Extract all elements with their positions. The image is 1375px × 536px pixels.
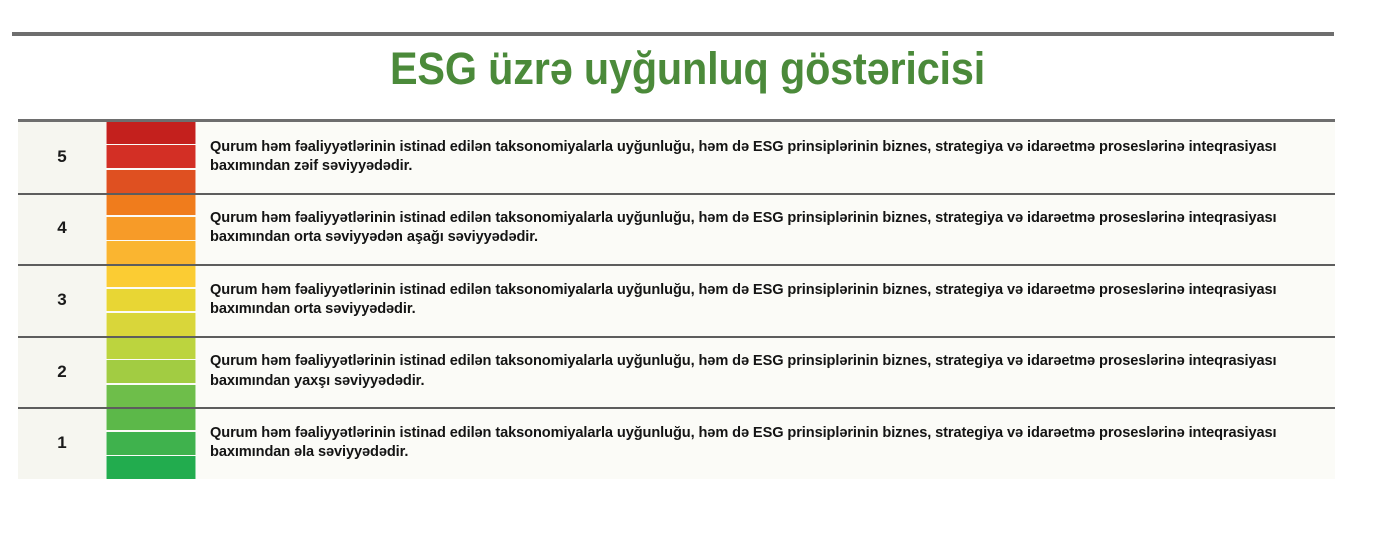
- table-row: 5Qurum həm fəaliyyətlərinin istinad edil…: [18, 121, 1335, 193]
- color-swatch: [106, 385, 196, 408]
- color-swatch: [106, 336, 196, 359]
- description-text: Qurum həm fəaliyyətlərinin istinad edilə…: [210, 209, 1309, 248]
- description-cell: Qurum həm fəaliyyətlərinin istinad edilə…: [196, 336, 1335, 408]
- color-swatch: [106, 145, 196, 168]
- color-swatch: [106, 360, 196, 383]
- table-row: 3Qurum həm fəaliyyətlərinin istinad edil…: [18, 264, 1335, 336]
- score-cell: 4: [18, 193, 106, 265]
- page-title: ESG üzrə uyğunluq göstəricisi: [55, 44, 1320, 94]
- table-top-border: [18, 119, 1335, 122]
- description-text: Qurum həm fəaliyyətlərinin istinad edilə…: [210, 138, 1309, 177]
- score-cell: 3: [18, 264, 106, 336]
- description-text: Qurum həm fəaliyyətlərinin istinad edilə…: [210, 424, 1309, 463]
- color-swatch: [106, 407, 196, 430]
- description-cell: Qurum həm fəaliyyətlərinin istinad edilə…: [196, 264, 1335, 336]
- description-text: Qurum həm fəaliyyətlərinin istinad edilə…: [210, 352, 1309, 391]
- top-divider-rule: [12, 32, 1334, 36]
- score-cell: 2: [18, 336, 106, 408]
- table-row: 2Qurum həm fəaliyyətlərinin istinad edil…: [18, 336, 1335, 408]
- score-cell: 5: [18, 121, 106, 193]
- color-swatch: [106, 241, 196, 264]
- color-scale-cell: [106, 264, 196, 336]
- color-scale-cell: [106, 121, 196, 193]
- color-swatch: [106, 170, 196, 193]
- table-row: 1Qurum həm fəaliyyətlərinin istinad edil…: [18, 407, 1335, 479]
- color-swatch: [106, 289, 196, 312]
- esg-rating-table: 5Qurum həm fəaliyyətlərinin istinad edil…: [18, 121, 1335, 479]
- row-separator: [18, 407, 1335, 409]
- color-swatch: [106, 217, 196, 240]
- row-separator: [18, 193, 1335, 195]
- score-cell: 1: [18, 407, 106, 479]
- description-cell: Qurum həm fəaliyyətlərinin istinad edilə…: [196, 407, 1335, 479]
- row-separator: [18, 336, 1335, 338]
- color-swatch: [106, 264, 196, 287]
- color-swatch: [106, 432, 196, 455]
- color-swatch: [106, 313, 196, 336]
- color-swatch: [106, 121, 196, 144]
- description-cell: Qurum həm fəaliyyətlərinin istinad edilə…: [196, 121, 1335, 193]
- color-scale-cell: [106, 407, 196, 479]
- color-swatch: [106, 456, 196, 479]
- color-swatch: [106, 193, 196, 216]
- color-scale-cell: [106, 193, 196, 265]
- color-scale-cell: [106, 336, 196, 408]
- table-row: 4Qurum həm fəaliyyətlərinin istinad edil…: [18, 193, 1335, 265]
- row-separator: [18, 264, 1335, 266]
- description-cell: Qurum həm fəaliyyətlərinin istinad edilə…: [196, 193, 1335, 265]
- description-text: Qurum həm fəaliyyətlərinin istinad edilə…: [210, 281, 1309, 320]
